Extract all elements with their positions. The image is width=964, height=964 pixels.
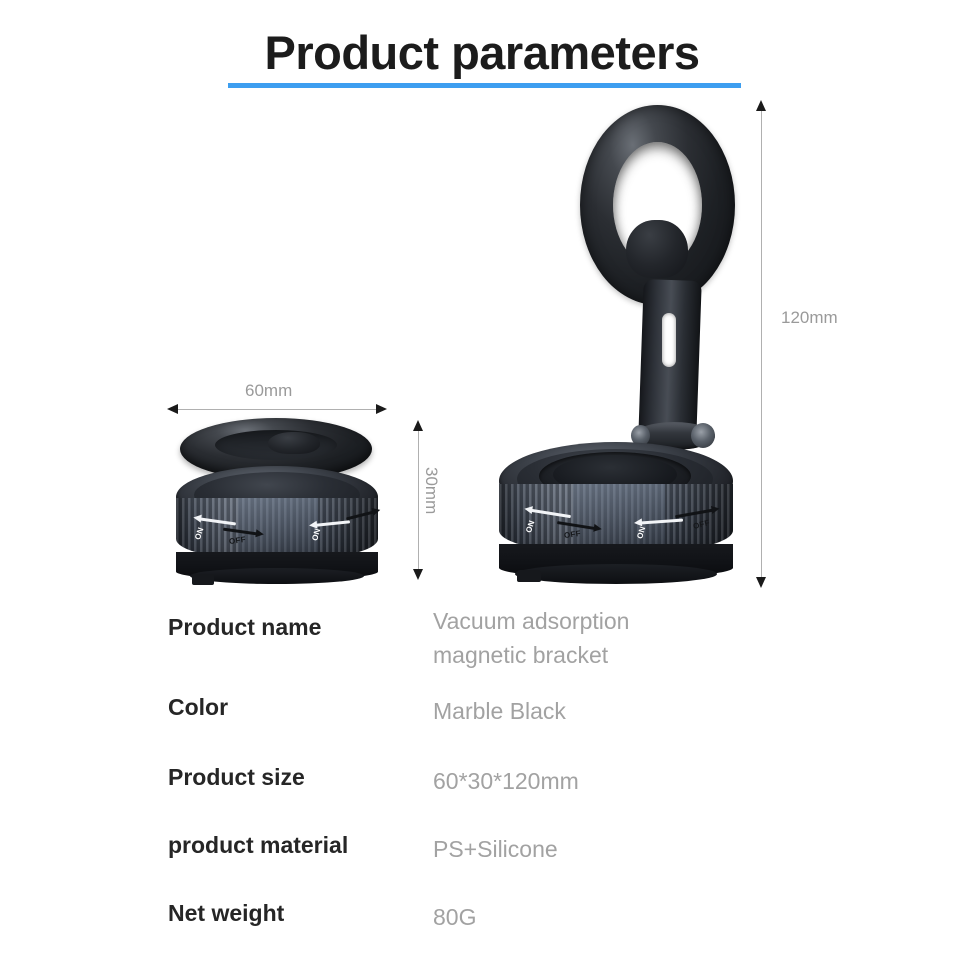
- arm-slot-cutout: [662, 313, 676, 367]
- height-dimension-arrow-bottom: [756, 577, 766, 588]
- table-row: Product name Vacuum adsorption magnetic …: [168, 614, 788, 694]
- upright-product-image: ON OFF ON OFF: [495, 100, 760, 590]
- height-dimension-label: 120mm: [781, 308, 838, 328]
- table-row: product material PS+Silicone: [168, 832, 788, 900]
- spec-label-product-material: product material: [168, 832, 348, 859]
- folded-height-dimension-label: 30mm: [421, 467, 441, 514]
- folded-knurl-highlight: [238, 498, 318, 560]
- folded-height-dimension-arrow-top: [413, 420, 423, 431]
- table-row: Product size 60*30*120mm: [168, 764, 788, 832]
- folded-product-image: ON OFF ON: [172, 418, 387, 583]
- spec-label-net-weight: Net weight: [168, 900, 284, 927]
- spec-value-net-weight: 80G: [433, 900, 476, 934]
- folded-height-dimension-arrow-bottom: [413, 569, 423, 580]
- folded-base-knurled-ring[interactable]: [176, 498, 378, 560]
- spec-label-color: Color: [168, 694, 228, 721]
- spec-label-product-name: Product name: [168, 614, 321, 641]
- product-parameters-page: Product parameters O: [0, 0, 964, 964]
- spec-value-product-name: Vacuum adsorption magnetic bracket: [433, 604, 629, 672]
- table-row: Net weight 80G: [168, 900, 788, 964]
- folded-base-bottom-ellipse: [190, 568, 364, 584]
- folded-suction-base: ON OFF ON: [172, 466, 384, 584]
- suction-base: ON OFF ON OFF: [495, 440, 740, 590]
- base-bottom-ellipse: [515, 564, 717, 584]
- spec-value-product-material: PS+Silicone: [433, 832, 558, 866]
- base-release-tab[interactable]: [517, 570, 541, 582]
- width-dimension-label: 60mm: [245, 381, 292, 401]
- folded-magnetic-ring-tab: [268, 432, 320, 454]
- page-title-block: Product parameters: [0, 28, 964, 77]
- magnetic-ring-tab: [626, 220, 688, 278]
- spec-value-product-size: 60*30*120mm: [433, 764, 579, 798]
- spec-label-product-size: Product size: [168, 764, 305, 791]
- width-dimension-arrow-right: [376, 404, 387, 414]
- width-dimension-arrow-left: [167, 404, 178, 414]
- folded-base-release-tab[interactable]: [192, 574, 214, 585]
- page-title: Product parameters: [264, 28, 699, 77]
- table-row: Color Marble Black: [168, 694, 788, 764]
- spec-value-color: Marble Black: [433, 694, 566, 728]
- height-dimension-arrow-top: [756, 100, 766, 111]
- folded-height-dimension-line: [418, 428, 419, 572]
- title-underline-accent: [228, 83, 741, 88]
- width-dimension-line: [176, 409, 378, 410]
- specification-table: Product name Vacuum adsorption magnetic …: [168, 614, 788, 964]
- height-dimension-line: [761, 108, 762, 580]
